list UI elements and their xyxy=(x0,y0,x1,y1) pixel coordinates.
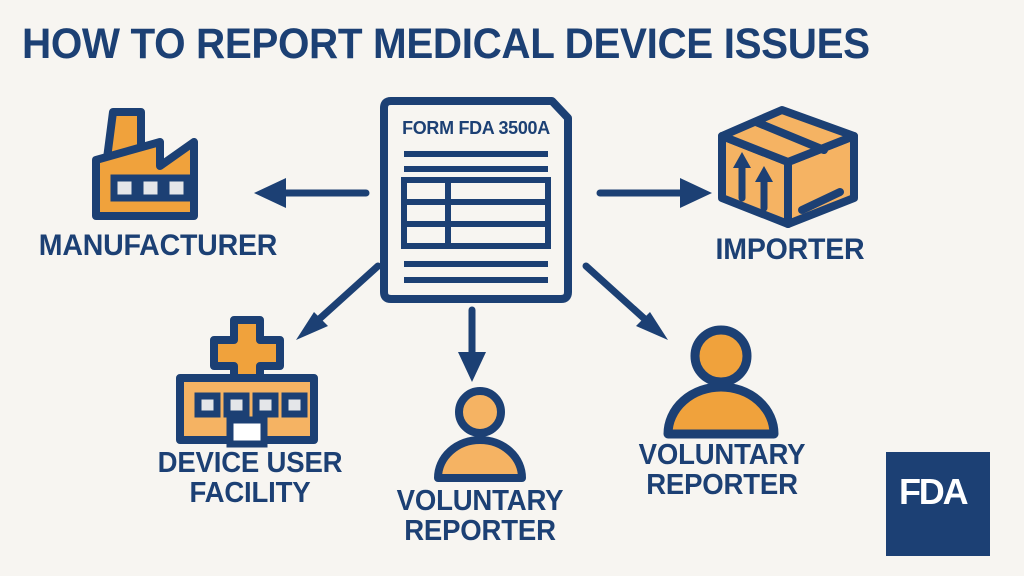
factory-icon xyxy=(78,104,230,226)
hospital-icon xyxy=(172,316,328,444)
label-line: FACILITY xyxy=(143,478,358,508)
node-device-user-facility-label: DEVICE USER FACILITY xyxy=(143,448,358,508)
label-line: REPORTER xyxy=(373,516,588,546)
label-line: VOLUNTARY xyxy=(618,440,827,470)
node-voluntary-reporter-right-label: VOLUNTARY REPORTER xyxy=(618,440,827,500)
page-title: HOW TO REPORT MEDICAL DEVICE ISSUES xyxy=(22,22,924,67)
node-voluntary-reporter-right: VOLUNTARY REPORTER xyxy=(658,324,784,438)
arrow-to-manufacturer xyxy=(248,178,368,208)
form-title-label: FORM FDA 3500A xyxy=(381,117,571,139)
node-voluntary-reporter-center-label: VOLUNTARY REPORTER xyxy=(373,486,588,546)
node-manufacturer-label: MANUFACTURER xyxy=(25,230,291,261)
person-icon xyxy=(658,324,784,438)
label-line: VOLUNTARY xyxy=(373,486,588,516)
node-manufacturer: MANUFACTURER xyxy=(78,104,230,226)
fda-logo: FDA xyxy=(886,452,990,556)
form-fda-3500a-node: FORM FDA 3500A xyxy=(378,96,574,304)
label-line: REPORTER xyxy=(618,470,827,500)
infographic-canvas: HOW TO REPORT MEDICAL DEVICE ISSUES xyxy=(0,0,1024,576)
node-importer-label: IMPORTER xyxy=(657,234,923,265)
arrow-to-importer xyxy=(598,178,718,208)
shipping-box-icon xyxy=(712,100,868,230)
person-icon xyxy=(428,386,532,482)
label-line: DEVICE USER xyxy=(143,448,358,478)
node-voluntary-reporter-center: VOLUNTARY REPORTER xyxy=(428,386,532,482)
fda-logo-text: FDA xyxy=(899,474,966,510)
node-device-user-facility: DEVICE USER FACILITY xyxy=(172,316,328,444)
node-importer: IMPORTER xyxy=(712,100,868,230)
arrow-to-voluntary-reporter-center xyxy=(455,308,489,384)
